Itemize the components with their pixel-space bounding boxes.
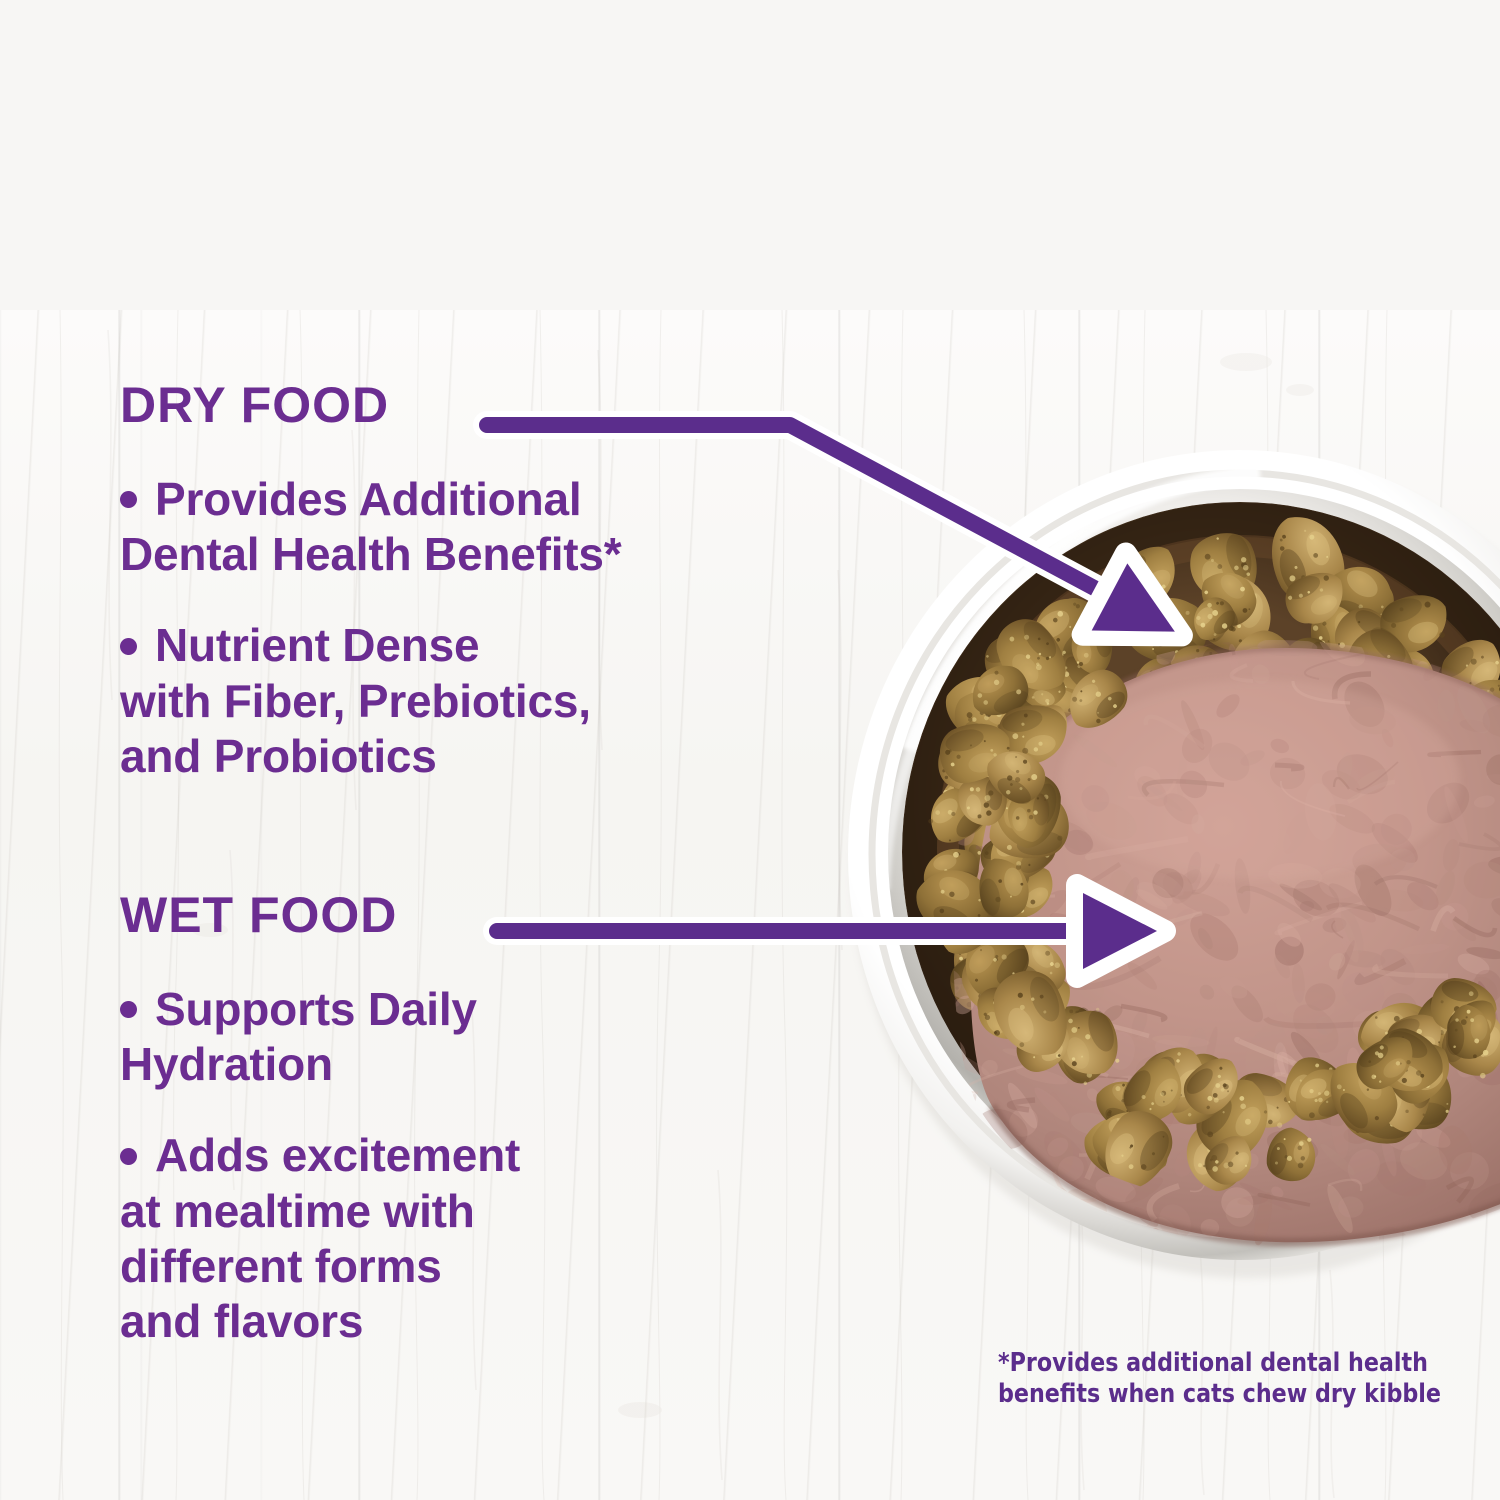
dry-food-section: DRY FOOD Provides Additional Dental Heal… xyxy=(120,380,820,784)
wet-food-bullet-1: Supports Daily Hydration xyxy=(120,982,820,1092)
dry-food-bullet-1: Provides Additional Dental Health Benefi… xyxy=(120,472,820,582)
wet-food-heading: WET FOOD xyxy=(120,890,820,940)
footnote-line-1: *Provides additional dental health xyxy=(998,1348,1435,1379)
bullet-text: Provides Additional xyxy=(155,473,581,525)
bullet-text: Supports Daily xyxy=(155,983,477,1035)
bullet-text: at mealtime with xyxy=(120,1184,820,1239)
bullet-dot-icon xyxy=(120,1148,137,1165)
bullet-text: with Fiber, Prebiotics, xyxy=(120,674,820,729)
wet-food-section: WET FOOD Supports Daily Hydration Adds e… xyxy=(120,890,820,1349)
dry-food-bullet-2: Nutrient Dense with Fiber, Prebiotics, a… xyxy=(120,618,820,784)
bullet-text: Adds excitement xyxy=(155,1129,520,1181)
bullet-dot-icon xyxy=(120,638,137,655)
footnote: *Provides additional dental health benef… xyxy=(998,1348,1435,1410)
bullet-text: and Probiotics xyxy=(120,729,820,784)
bullet-dot-icon xyxy=(120,491,137,508)
bullet-text: Dental Health Benefits* xyxy=(120,527,820,582)
dry-food-heading: DRY FOOD xyxy=(120,380,820,430)
bullet-dot-icon xyxy=(120,1001,137,1018)
wet-food-bullet-2: Adds excitement at mealtime with differe… xyxy=(120,1128,820,1349)
bullet-text: and flavors xyxy=(120,1294,820,1349)
bullet-text: different forms xyxy=(120,1239,820,1294)
infographic-canvas: DRY FOOD Provides Additional Dental Heal… xyxy=(0,0,1500,1500)
footnote-line-2: benefits when cats chew dry kibble xyxy=(998,1379,1435,1410)
bullet-text: Hydration xyxy=(120,1037,820,1092)
bullet-text: Nutrient Dense xyxy=(155,619,479,671)
